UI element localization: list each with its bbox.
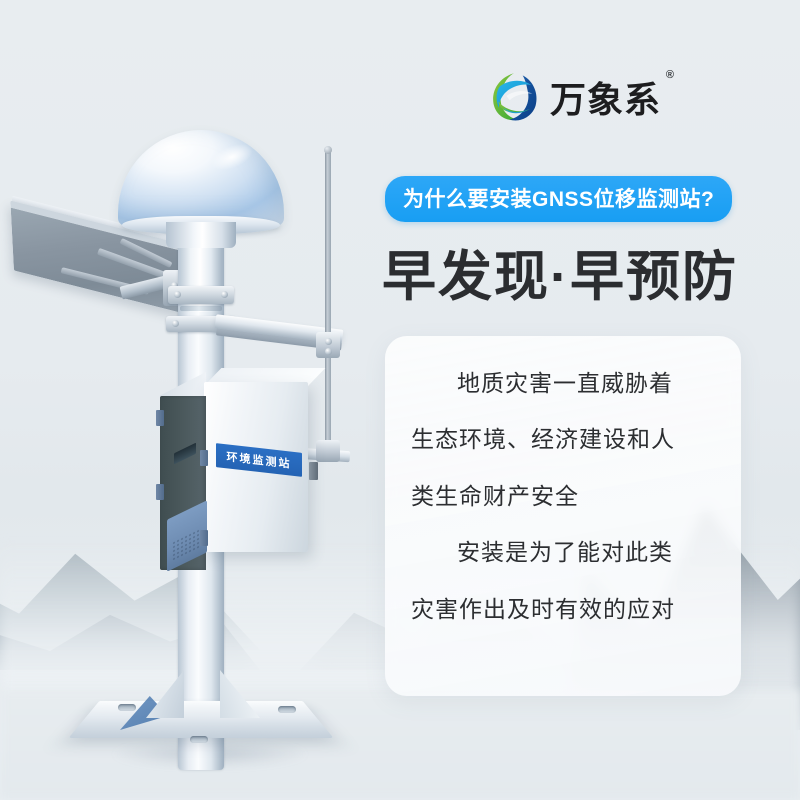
page-title: 早发现·早预防 xyxy=(382,232,738,311)
enclosure-latch xyxy=(309,462,318,480)
monitoring-station-illustration: 环境监测站 xyxy=(0,110,370,750)
registered-trademark-icon: ® xyxy=(666,69,675,81)
enclosure-hinge xyxy=(200,530,208,546)
dome-neck xyxy=(166,222,236,248)
brand-logo: 万象系 ® xyxy=(487,66,667,128)
bolt-icon xyxy=(174,291,181,298)
base-bolt-slot xyxy=(190,736,208,743)
gnss-antenna-dome xyxy=(118,130,284,226)
poster-canvas: 环境监测站 xyxy=(0,0,800,800)
pole-joint-seam xyxy=(180,306,222,311)
enclosure-nameplate-text: 环境监测站 xyxy=(227,448,292,471)
description-line: 地质灾害一直威胁着 xyxy=(411,370,715,396)
bolt-icon xyxy=(172,320,179,327)
whip-antenna xyxy=(325,150,331,460)
description-card: 地质灾害一直威胁着 生态环境、经济建设和人 类生命财产安全 安装是为了能对此类 … xyxy=(385,336,741,696)
base-bolt-slot xyxy=(118,704,136,711)
question-badge: 为什么要安装GNSS位移监测站? xyxy=(385,176,732,222)
description-line: 类生命财产安全 xyxy=(411,483,715,509)
enclosure-hinge xyxy=(200,450,208,466)
description-line: 灾害作出及时有效的应对 xyxy=(411,596,715,622)
bolt-icon xyxy=(221,291,228,298)
bolt-icon xyxy=(325,348,332,355)
swirl-globe-icon xyxy=(487,70,541,124)
enclosure-hinge xyxy=(156,484,164,500)
whip-antenna-bracket-lower xyxy=(316,440,340,462)
brand-name: 万象系 ® xyxy=(550,71,661,123)
description-line: 安装是为了能对此类 xyxy=(411,539,715,565)
whip-antenna-tip xyxy=(324,146,332,154)
brand-name-text: 万象系 xyxy=(550,79,661,120)
description-line: 生态环境、经济建设和人 xyxy=(411,426,715,452)
bolt-icon xyxy=(325,338,332,345)
enclosure-hinge xyxy=(156,410,164,426)
base-bolt-slot xyxy=(278,706,296,713)
